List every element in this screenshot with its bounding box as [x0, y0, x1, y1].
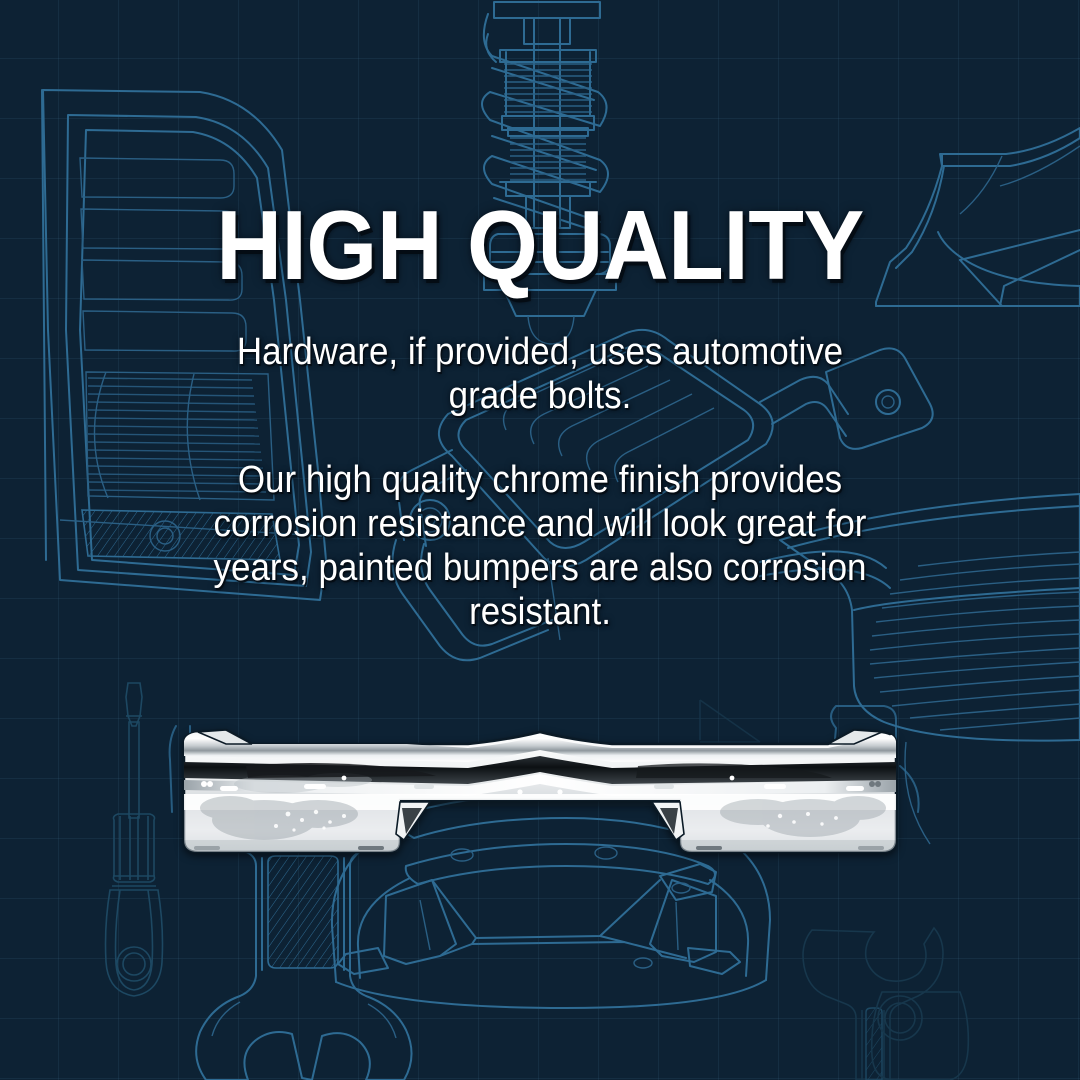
- open-end-wrench-faint-icon: [803, 928, 943, 1080]
- screwdriver-faint-icon: [872, 992, 969, 1080]
- promo-banner: HIGH QUALITY Hardware, if provided, uses…: [0, 0, 1080, 1080]
- body-paragraph-1: Hardware, if provided, uses automotive g…: [190, 330, 889, 418]
- chrome-front-bumper-image: [168, 722, 912, 862]
- body-paragraph-2: Our high quality chrome finish provides …: [177, 458, 904, 634]
- screwdriver-icon: [106, 683, 163, 996]
- page-title: HIGH QUALITY: [38, 196, 1042, 294]
